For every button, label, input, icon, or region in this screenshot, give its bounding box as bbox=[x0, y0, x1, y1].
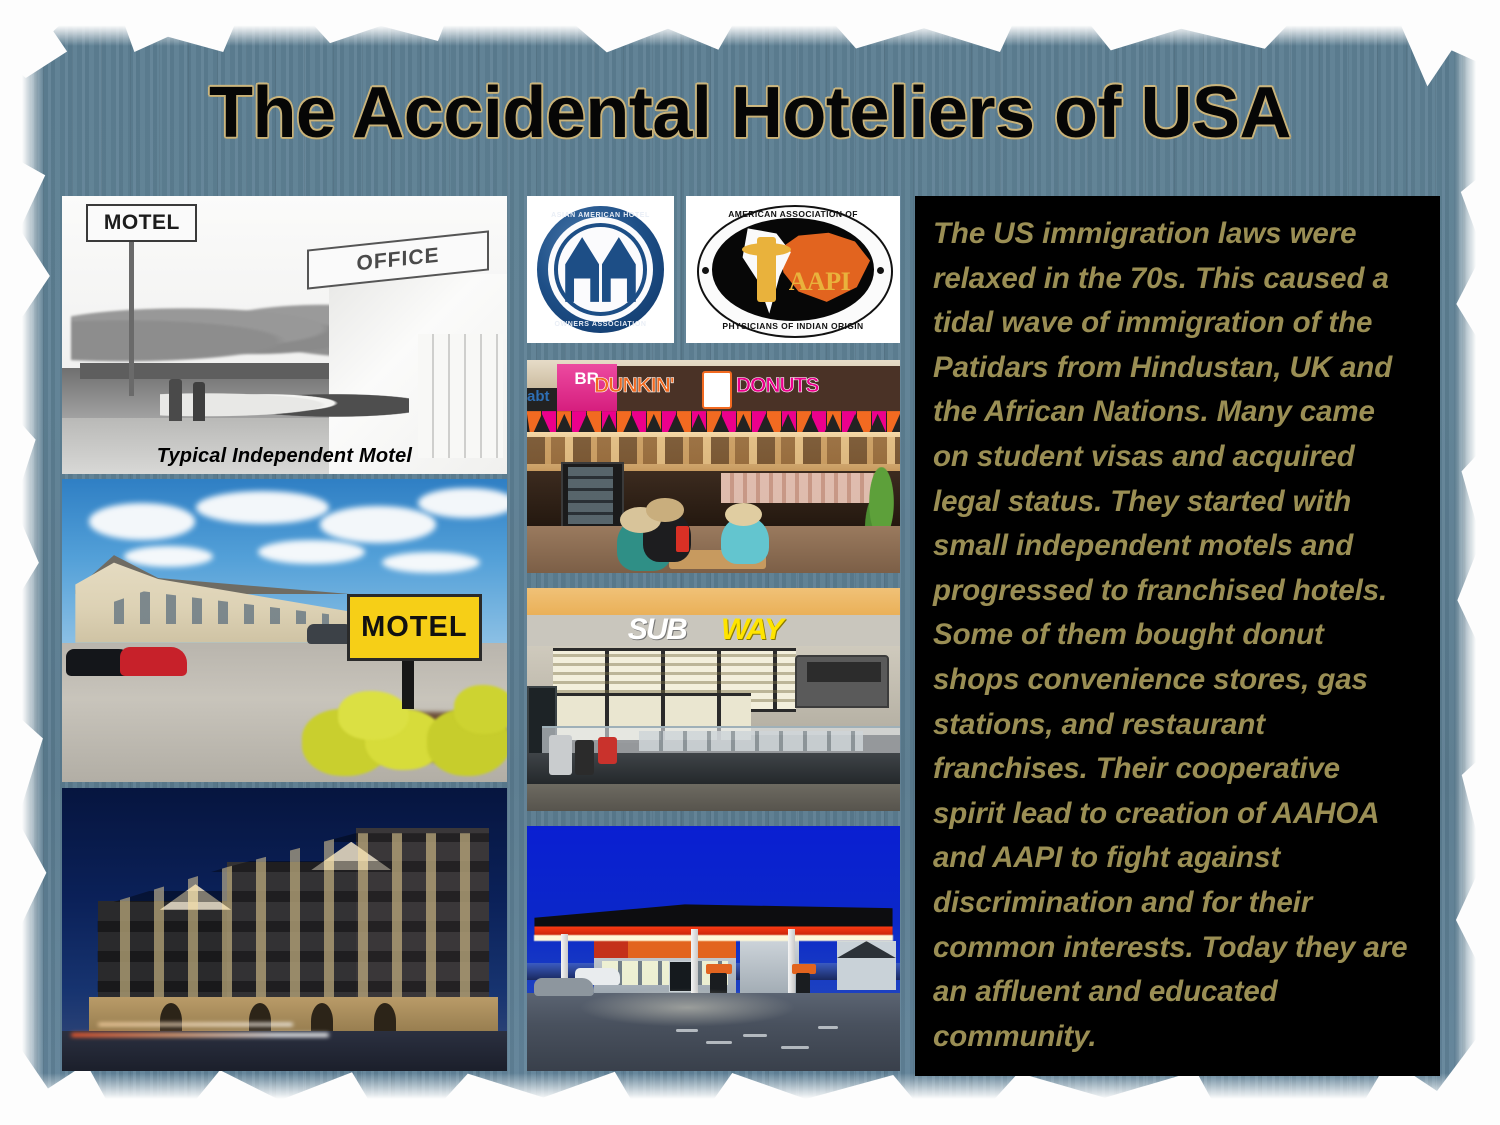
donuts-text: DONUTS bbox=[736, 374, 819, 398]
photo-donut-shop: BR abt DUNKIN' DONUTS bbox=[527, 360, 900, 573]
logo-arc-top-text: AMERICAN ASSOCIATION OF bbox=[686, 209, 900, 219]
pavement-marking bbox=[818, 1026, 838, 1029]
cloud bbox=[382, 552, 480, 573]
logo-bullet-dot bbox=[877, 267, 884, 274]
monogram-letter-a bbox=[602, 237, 636, 302]
oven-door bbox=[807, 662, 882, 682]
customer-hair bbox=[725, 503, 762, 526]
side-sign-text: abt bbox=[527, 388, 550, 405]
cup-stacks bbox=[721, 473, 885, 503]
shrub bbox=[454, 685, 507, 733]
logo-acronym: AAPI bbox=[789, 267, 851, 297]
road bbox=[62, 1031, 507, 1071]
description-panel: The US immigration laws were relaxed in … bbox=[915, 196, 1440, 1076]
logo-aapi: AMERICAN ASSOCIATION OF PHYSICIANS OF IN… bbox=[686, 196, 900, 343]
logo-arc-bottom-text: PHYSICIANS OF INDIAN ORIGIN bbox=[686, 321, 900, 331]
cooler-glass bbox=[568, 467, 613, 525]
shrub bbox=[338, 691, 409, 739]
logo-bullet-dot bbox=[702, 267, 709, 274]
sign-post bbox=[402, 661, 414, 709]
canopy-lights bbox=[534, 935, 892, 941]
light-glow bbox=[579, 988, 795, 1027]
store-facade-accent bbox=[594, 939, 628, 959]
ingredient-trays bbox=[639, 731, 863, 751]
motel-road-sign: MOTEL bbox=[347, 594, 482, 661]
description-text: The US immigration laws were relaxed in … bbox=[933, 212, 1418, 1059]
logo-arc-bottom-text: OWNERS ASSOCIATION bbox=[527, 321, 674, 328]
red-car bbox=[120, 647, 187, 676]
dunkin-text: DUNKIN' bbox=[594, 374, 674, 398]
logo-arc-top-text: ASIAN AMERICAN HOTEL bbox=[527, 212, 674, 219]
grey-sedan bbox=[534, 978, 594, 996]
photo-vintage-motel: OFFICE MOTEL Typical Independent Motel bbox=[62, 196, 507, 474]
cloud bbox=[124, 546, 213, 567]
light-trail bbox=[98, 1023, 294, 1026]
counter-base bbox=[527, 784, 900, 811]
cloud bbox=[320, 506, 436, 542]
monogram-letter-a bbox=[565, 237, 599, 302]
dispenser-jug bbox=[549, 735, 571, 775]
logo-monogram bbox=[565, 237, 636, 302]
coffee-urn bbox=[575, 740, 594, 776]
coffee-cup-icon bbox=[702, 371, 732, 409]
pavement-marking bbox=[781, 1046, 809, 1049]
photo-sandwich-shop: SUB WAY bbox=[527, 588, 900, 811]
cloud bbox=[258, 540, 365, 564]
logo-aahoa: ASIAN AMERICAN HOTEL OWNERS ASSOCIATION bbox=[527, 196, 674, 343]
person-figure bbox=[169, 379, 182, 421]
pavement-marking bbox=[706, 1041, 732, 1044]
sign-pole bbox=[129, 224, 134, 396]
subway-text-part-1: SUB bbox=[628, 613, 687, 647]
photo-caption: Typical Independent Motel bbox=[62, 445, 507, 468]
person-figure bbox=[193, 382, 205, 421]
subway-text-part-2: WAY bbox=[721, 613, 782, 647]
red-container bbox=[598, 737, 617, 764]
photo-gas-station bbox=[527, 826, 900, 1071]
motel-sign-text: MOTEL bbox=[361, 611, 468, 644]
display-products bbox=[527, 437, 900, 465]
drink-cup bbox=[676, 526, 689, 552]
light-trail bbox=[71, 1033, 329, 1037]
photo-franchised-hotel bbox=[62, 788, 507, 1071]
slide-title: The Accidental Hoteliers of USA bbox=[0, 72, 1500, 154]
slide: The Accidental Hoteliers of USA OFFICE M… bbox=[0, 0, 1500, 1125]
cloud bbox=[89, 503, 196, 539]
motel-canopy bbox=[80, 363, 365, 380]
photo-modern-motel: MOTEL bbox=[62, 479, 507, 782]
office-building bbox=[329, 274, 507, 474]
pavement-marking bbox=[743, 1034, 767, 1037]
pavement-marking bbox=[676, 1029, 698, 1032]
motel-sign: MOTEL bbox=[86, 204, 197, 241]
customer-hair bbox=[646, 498, 683, 521]
